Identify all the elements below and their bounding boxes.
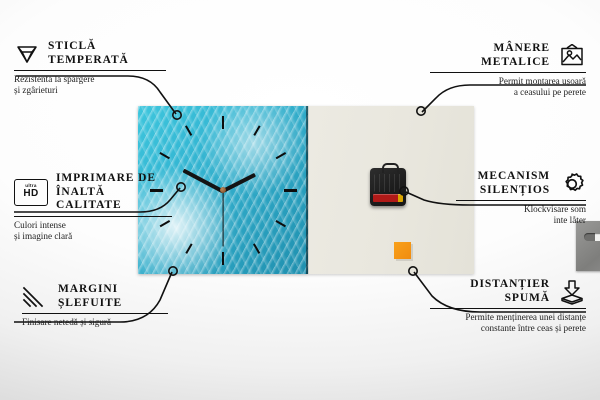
- feature-polished-edges: MARGINI ȘLEFUITE Finisare netedă și sigu…: [22, 283, 168, 328]
- feature-high-quality-print: ultra HD IMPRIMARE DE ÎNALTĂ CALITATE Cu…: [14, 172, 172, 242]
- ultra-hd-main-text: HD: [23, 189, 38, 199]
- feature-tempered-glass: STICLĂ TEMPERATĂ Rezistentă la spargere …: [14, 40, 166, 96]
- feature-desc-line1: Finisare netedă și sigură: [22, 317, 168, 328]
- clock-tick: [276, 152, 286, 159]
- feature-desc-line1: Permit montarea ușoară: [430, 76, 586, 87]
- feature-title-line1: MARGINI: [58, 283, 122, 297]
- clock-tick: [222, 116, 224, 129]
- clock-center-cap: [220, 187, 226, 193]
- feature-foam-spacer: DISTANȚIER SPUMĂ Permite menținerea unei…: [430, 278, 586, 334]
- divider: [430, 308, 586, 309]
- feature-silent-mechanism: MECANISM SILENȚIOS Klockvisare som inte …: [456, 170, 586, 226]
- foam-spacer: [394, 242, 411, 259]
- clock-mechanism: [370, 168, 406, 206]
- clock-tick: [276, 220, 286, 227]
- infographic-canvas: STICLĂ TEMPERATĂ Rezistentă la spargere …: [0, 0, 600, 400]
- feature-desc-line1: Rezistentă la spargere: [14, 74, 166, 85]
- hanger-keyhole-slot: [584, 233, 600, 241]
- clock-tick: [284, 189, 297, 192]
- feature-title-line2: ÎNALTĂ CALITATE: [56, 186, 172, 213]
- feature-title-line2: METALICE: [481, 56, 550, 70]
- divider: [22, 313, 168, 314]
- clock-tick: [160, 152, 170, 159]
- mechanism-hook: [382, 163, 399, 173]
- divider: [14, 216, 172, 217]
- feature-desc-line2: inte låter: [456, 215, 586, 226]
- clock-tick: [253, 125, 260, 135]
- polished-edge-icon: [22, 286, 50, 308]
- feature-title-line2: SPUMĂ: [470, 292, 550, 306]
- feature-desc-line2: și zgârieturi: [14, 85, 166, 96]
- clock-tick: [185, 125, 192, 135]
- gear-icon: [558, 171, 586, 197]
- picture-hanger-icon: [558, 44, 586, 68]
- clock-minute-hand: [182, 169, 223, 193]
- feature-desc-line1: Permite menținerea unei distanțe: [430, 312, 586, 323]
- diamond-icon: [14, 43, 40, 65]
- divider: [430, 72, 586, 73]
- feature-title-line1: STICLĂ: [48, 40, 129, 54]
- clock-tick: [222, 252, 224, 265]
- feature-title-line2: ȘLEFUITE: [58, 297, 122, 311]
- feature-title-line1: MECANISM: [478, 170, 550, 184]
- battery: [373, 194, 403, 202]
- clock-back-panel: [308, 106, 474, 274]
- product-photo: [138, 106, 474, 274]
- feature-desc-line2: constante între ceas și perete: [430, 323, 586, 334]
- ultra-hd-icon: ultra HD: [14, 179, 48, 206]
- clock-tick: [253, 243, 260, 253]
- feature-title-line1: MÂNERE: [481, 42, 550, 56]
- clock-hour-hand: [222, 173, 256, 193]
- clock-second-hand: [222, 191, 223, 247]
- feature-metal-hangers: MÂNERE METALICE Permit montarea ușoară a…: [430, 42, 586, 98]
- feature-title-line2: SILENȚIOS: [478, 184, 550, 198]
- feature-desc-line2: și imagine clară: [14, 231, 172, 242]
- feature-desc-line1: Culori intense: [14, 220, 172, 231]
- feature-title-line1: IMPRIMARE DE: [56, 172, 172, 186]
- clock-tick: [185, 243, 192, 253]
- divider: [456, 200, 586, 201]
- divider: [14, 70, 166, 71]
- metal-hanger-plate: [576, 221, 600, 271]
- foam-spacer-icon: [558, 279, 586, 305]
- feature-desc-line1: Klockvisare som: [456, 204, 586, 215]
- feature-title-line1: DISTANȚIER: [470, 278, 550, 292]
- feature-desc-line2: a ceasului pe perete: [430, 87, 586, 98]
- mechanism-ridges: [374, 174, 402, 192]
- feature-title-line2: TEMPERATĂ: [48, 54, 129, 68]
